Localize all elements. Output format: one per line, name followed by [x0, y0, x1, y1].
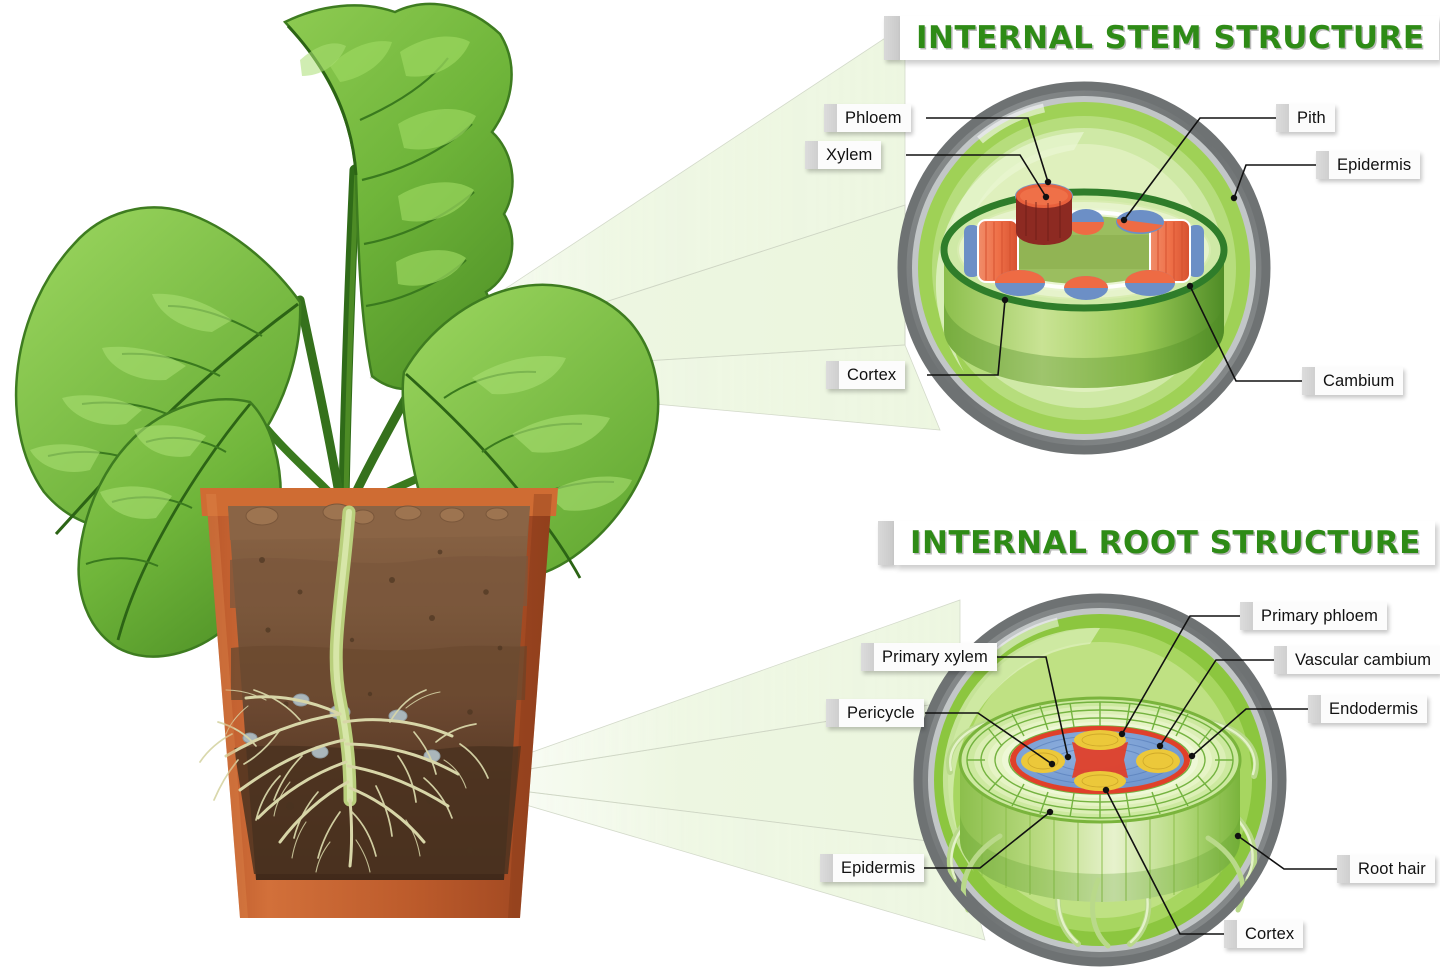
label-cortex-stem[interactable]: Cortex	[826, 361, 905, 389]
label-cortex-root[interactable]: Cortex	[1224, 920, 1303, 948]
label-primary-phloem[interactable]: Primary phloem	[1240, 602, 1387, 630]
title-tab-accent	[878, 521, 894, 565]
label-endodermis[interactable]: Endodermis	[1308, 695, 1427, 723]
label-tag-icon	[805, 141, 818, 169]
label-tag-icon	[1316, 151, 1329, 179]
stem-section-title: INTERNAL STEM STRUCTURE	[884, 16, 1439, 60]
label-tag-icon	[1308, 695, 1321, 723]
title-plate: INTERNAL STEM STRUCTURE	[900, 16, 1439, 60]
label-vascular-cambium[interactable]: Vascular cambium	[1274, 646, 1440, 674]
root-title-text: INTERNAL ROOT STRUCTURE	[910, 525, 1421, 561]
label-phloem[interactable]: Phloem	[824, 104, 911, 132]
stem-cross-section-illustration	[902, 86, 1266, 450]
title-tab-accent	[884, 16, 900, 60]
label-tag-icon	[824, 104, 837, 132]
label-tag-icon	[1337, 855, 1350, 883]
label-cambium[interactable]: Cambium	[1302, 367, 1403, 395]
label-xylem[interactable]: Xylem	[805, 141, 881, 169]
label-epidermis-stem[interactable]: Epidermis	[1316, 151, 1420, 179]
diagram-canvas: INTERNAL STEM STRUCTURE INTERNAL ROOT ST…	[0, 0, 1440, 980]
label-tag-icon	[826, 699, 839, 727]
label-tag-icon	[1224, 920, 1237, 948]
label-pith[interactable]: Pith	[1276, 104, 1335, 132]
label-tag-icon	[1274, 646, 1287, 674]
label-root-hair[interactable]: Root hair	[1337, 855, 1435, 883]
title-plate: INTERNAL ROOT STRUCTURE	[894, 521, 1435, 565]
root-section-title: INTERNAL ROOT STRUCTURE	[878, 521, 1435, 565]
stem-title-text: INTERNAL STEM STRUCTURE	[916, 20, 1425, 56]
label-tag-icon	[1302, 367, 1315, 395]
label-primary-xylem[interactable]: Primary xylem	[861, 643, 997, 671]
label-tag-icon	[820, 854, 833, 882]
illustration-layer	[0, 0, 1440, 980]
label-pericycle[interactable]: Pericycle	[826, 699, 924, 727]
label-tag-icon	[826, 361, 839, 389]
label-tag-icon	[861, 643, 874, 671]
label-tag-icon	[1276, 104, 1289, 132]
plant-pot	[200, 488, 558, 918]
label-epidermis-root[interactable]: Epidermis	[820, 854, 924, 882]
label-tag-icon	[1240, 602, 1253, 630]
